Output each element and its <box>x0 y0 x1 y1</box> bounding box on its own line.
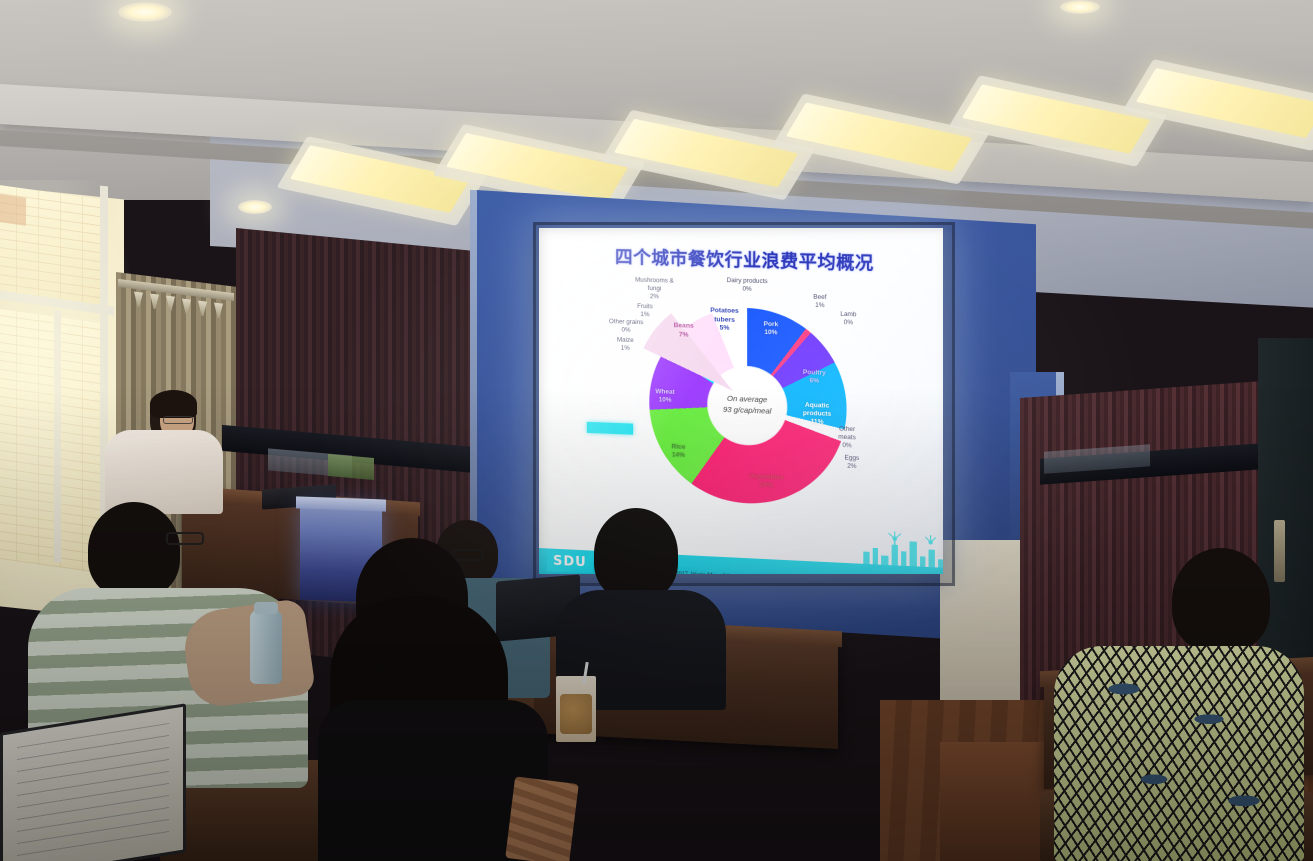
skyline-graphic <box>857 529 943 568</box>
label-pct: 2% <box>844 462 859 471</box>
bottle-cap[interactable] <box>254 602 278 614</box>
label-pct: 14% <box>672 451 685 459</box>
slide-title: 四个城市餐饮行业浪费平均概况 <box>539 242 943 278</box>
ceiling-downlight <box>1060 0 1100 14</box>
label-pct: 0% <box>840 319 856 327</box>
juice-box-art <box>560 694 592 734</box>
label-text: Pork <box>764 321 779 329</box>
label-text2: products <box>803 410 831 418</box>
label-text: Aquatic <box>805 402 829 410</box>
label-pct: 1% <box>813 301 826 309</box>
label-other-meats: Other meats 0% <box>838 425 856 450</box>
label-text: Maize <box>617 336 634 344</box>
ceiling-downlight <box>118 2 172 22</box>
slide-surface: 四个城市餐饮行业浪费平均概况 On average 93 g/cap/meal … <box>539 228 943 574</box>
label-pct: 1% <box>617 344 634 352</box>
label-text: Vegetables <box>749 473 783 482</box>
sdu-logo: SDU <box>547 550 593 573</box>
label-eggs: Eggs 2% <box>844 454 859 470</box>
label-text2: meats <box>838 433 856 442</box>
pie-chart: On average 93 g/cap/meal Mushrooms & fun… <box>613 282 875 546</box>
ceiling-downlight <box>238 200 272 214</box>
label-text: Wheat <box>655 388 674 396</box>
label-pork: Pork 10% <box>764 321 779 338</box>
label-pct: 10% <box>764 329 777 337</box>
audience-head <box>1172 548 1270 652</box>
label-beef: Beef 1% <box>813 294 826 310</box>
label-vegetables: Vegetables 29% <box>749 473 783 491</box>
label-pct: 0% <box>609 326 643 335</box>
label-text: Poultry <box>803 369 826 377</box>
label-text: Other grains <box>609 318 643 327</box>
label-pct: 1% <box>637 311 653 319</box>
label-pct: 7% <box>679 331 689 338</box>
label-text: Mushrooms & <box>635 277 674 286</box>
label-pct: 11% <box>811 418 824 426</box>
label-dairy-products: Dairy products 0% <box>727 277 768 294</box>
door-handle[interactable] <box>1274 520 1285 582</box>
window-mullion <box>54 310 61 562</box>
wall-window-slot <box>328 454 374 480</box>
label-pct: 2% <box>635 292 674 301</box>
label-maize: Maize 1% <box>617 336 634 352</box>
label-text: Beef <box>813 294 826 302</box>
label-text: Rice <box>672 443 686 451</box>
label-pct: 6% <box>809 377 819 384</box>
label-text: Lamb <box>840 311 856 319</box>
label-text2: tubers <box>714 316 735 324</box>
label-pct: 5% <box>720 325 730 332</box>
brick-detail <box>0 194 26 226</box>
bag-strap <box>505 776 579 861</box>
label-text: Potatoes <box>710 307 739 315</box>
label-text: Dairy products <box>727 277 768 286</box>
label-pct: 0% <box>727 285 768 294</box>
highlight-bar <box>587 422 633 435</box>
label-beans: Beans 7% <box>674 322 694 340</box>
label-aquatic-products: Aquatic products 11% <box>803 402 831 428</box>
label-pct: 0% <box>838 441 856 450</box>
label-lamb: Lamb 0% <box>840 311 856 327</box>
audience-glasses <box>452 549 484 561</box>
audience-head <box>88 502 180 598</box>
label-text: Beans <box>674 322 694 330</box>
label-wheat: Wheat 10% <box>655 388 674 405</box>
label-pct: 29% <box>760 481 773 489</box>
label-rice: Rice 14% <box>672 443 686 460</box>
presenter-glasses <box>163 416 193 424</box>
audience-floral-shirt <box>1054 646 1304 861</box>
label-text: Eggs <box>844 454 859 463</box>
label-mushrooms-fungi: Mushrooms & fungi 2% <box>635 277 674 302</box>
label-other-grains: Other grains 0% <box>609 318 643 335</box>
label-pct: 10% <box>659 396 672 404</box>
water-bottle[interactable] <box>250 610 282 684</box>
audience-head <box>594 508 678 600</box>
label-poultry: Poultry 6% <box>803 369 826 386</box>
laptop-screen-text <box>17 723 169 859</box>
label-fruits: Fruits 1% <box>637 303 653 319</box>
presenter-shirt <box>105 430 223 514</box>
label-potatoes-tubers: Potatoes tubers 5% <box>710 307 739 334</box>
lecture-hall-photo: 四个城市餐饮行业浪费平均概况 On average 93 g/cap/meal … <box>0 0 1313 861</box>
audience-glasses <box>166 532 204 545</box>
presenter-hair <box>150 390 197 418</box>
projection-screen: 四个城市餐饮行业浪费平均概况 On average 93 g/cap/meal … <box>539 228 943 574</box>
label-text: Fruits <box>637 303 653 311</box>
